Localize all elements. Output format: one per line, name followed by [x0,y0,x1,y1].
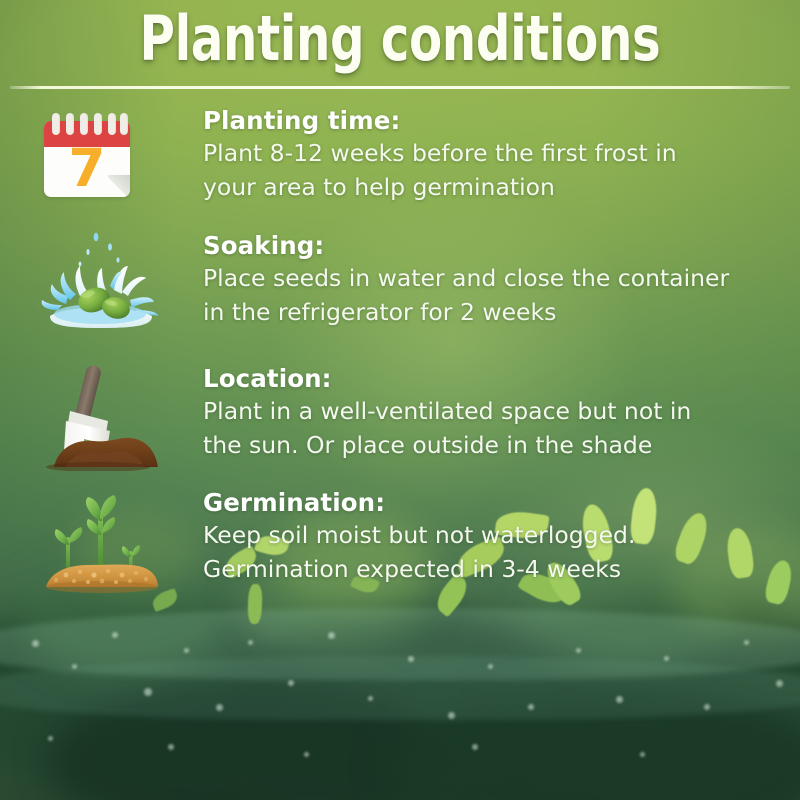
section-text: Planting time: Plant 8-12 weeks before t… [203,105,793,204]
calendar-icon: 7 [36,105,166,215]
seedlings-svg [36,487,166,595]
water-splash-seeds-svg [36,230,166,338]
section-body-line-2: in the refrigerator for 2 weeks [203,295,793,329]
section-text: Germination: Keep soil moist but not wat… [203,487,793,586]
title-divider [10,86,790,89]
water-splash-seeds-icon [36,230,166,340]
page-title: Planting conditions [88,6,712,71]
planting-conditions-poster: Planting conditions 7 Planting time: Pla… [0,0,800,800]
section-heading: Location: [203,363,793,394]
shovel-in-soil-svg [36,363,166,471]
section-body-line-2: your area to help germination [203,170,793,204]
section-heading: Soaking: [203,230,793,261]
section-text: Location: Plant in a well-ventilated spa… [203,363,793,462]
seedlings-icon [36,487,166,597]
section-body-line-1: Place seeds in water and close the conta… [203,261,793,295]
section-body-line-1: Plant in a well-ventilated space but not… [203,394,793,428]
section-body-line-1: Plant 8-12 weeks before the first frost … [203,136,793,170]
shovel-in-soil-icon [36,363,166,473]
section-body-line-1: Keep soil moist but not waterlogged. [203,518,793,552]
section-heading: Planting time: [203,105,793,136]
section-body-line-2: Germination expected in 3-4 weeks [203,552,793,586]
section-heading: Germination: [203,487,793,518]
section-text: Soaking: Place seeds in water and close … [203,230,793,329]
section-body-line-2: the sun. Or place outside in the shade [203,428,793,462]
